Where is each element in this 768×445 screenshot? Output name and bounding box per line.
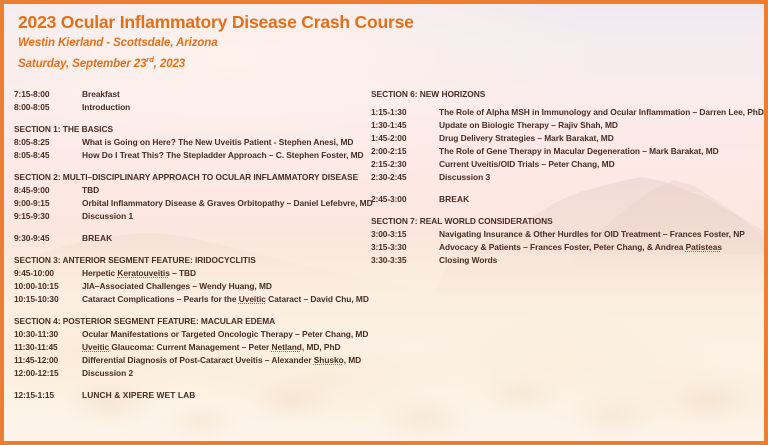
schedule-time: 9:45-10:00 bbox=[14, 269, 82, 277]
date-suffix: , 2023 bbox=[154, 58, 185, 70]
schedule-description: Discussion 1 bbox=[82, 212, 133, 220]
schedule-description: Breakfast bbox=[82, 90, 120, 98]
schedule-time: 9:30-9:45 bbox=[14, 234, 82, 242]
schedule-description: Discussion 2 bbox=[82, 369, 133, 377]
schedule-row: 3:15-3:30Advocacy & Patients – Frances F… bbox=[371, 243, 767, 256]
section-heading: SECTION 6: NEW HORIZONS bbox=[371, 90, 767, 103]
schedule-time: 9:00-9:15 bbox=[14, 199, 82, 207]
schedule-description: Orbital Inflammatory Disease & Graves Or… bbox=[82, 199, 373, 207]
schedule-time: 10:30-11:30 bbox=[14, 330, 82, 338]
schedule-time: 8:00-8:05 bbox=[14, 103, 82, 111]
schedule-description: TBD bbox=[82, 186, 99, 194]
schedule-row: 2:30-2:45Discussion 3 bbox=[371, 173, 767, 186]
schedule-time: 9:15-9:30 bbox=[14, 212, 82, 220]
schedule-description: Introduction bbox=[82, 103, 130, 111]
schedule-description: Current Uveitis/OID Trials – Peter Chang… bbox=[439, 160, 615, 168]
schedule-time: 2:45-3:00 bbox=[371, 195, 439, 203]
schedule-spacer bbox=[14, 225, 374, 234]
schedule-description: Closing Words bbox=[439, 256, 497, 264]
date-prefix: Saturday, September 23 bbox=[18, 58, 146, 70]
schedule-row: 9:30-9:45BREAK bbox=[14, 234, 374, 247]
schedule-time: 3:15-3:30 bbox=[371, 243, 439, 251]
schedule-description: BREAK bbox=[82, 234, 112, 242]
schedule-time: 2:00-2:15 bbox=[371, 147, 439, 155]
conference-schedule-poster: 2023 Ocular Inflammatory Disease Crash C… bbox=[0, 0, 768, 445]
schedule-time: 1:15-1:30 bbox=[371, 108, 439, 116]
schedule-row: 10:15-10:30Cataract Complications – Pear… bbox=[14, 295, 374, 308]
schedule-description: Herpetic Keratouveitis – TBD bbox=[82, 269, 196, 277]
schedule-description: What is Going on Here? The New Uveitis P… bbox=[82, 138, 353, 146]
schedule-row: 3:30-3:35Closing Words bbox=[371, 256, 767, 269]
schedule-time: 1:45-2:00 bbox=[371, 134, 439, 142]
schedule-description: Cataract Complications – Pearls for the … bbox=[82, 295, 369, 303]
schedule-description: Differential Diagnosis of Post-Cataract … bbox=[82, 356, 361, 364]
schedule-column-morning: 7:15-8:00Breakfast8:00-8:05IntroductionS… bbox=[14, 90, 374, 404]
schedule-description: Discussion 3 bbox=[439, 173, 490, 181]
schedule-description: Uveitic Glaucoma: Current Management – P… bbox=[82, 343, 341, 351]
schedule-description: How Do I Treat This? The Stepladder Appr… bbox=[82, 151, 364, 159]
schedule-description: Advocacy & Patients – Frances Foster, Pe… bbox=[439, 243, 722, 251]
schedule-spacer bbox=[371, 186, 767, 195]
schedule-time: 3:30-3:35 bbox=[371, 256, 439, 264]
schedule-time: 11:30-11:45 bbox=[14, 343, 82, 351]
schedule-time: 7:15-8:00 bbox=[14, 90, 82, 98]
schedule-description: Update on Biologic Therapy – Rajiv Shah,… bbox=[439, 121, 618, 129]
schedule-row: 8:00-8:05Introduction bbox=[14, 103, 374, 116]
date-line: Saturday, September 23rd, 2023 bbox=[18, 55, 414, 73]
schedule-time: 8:45-9:00 bbox=[14, 186, 82, 194]
schedule-row: 9:00-9:15Orbital Inflammatory Disease & … bbox=[14, 199, 374, 212]
date-ordinal: rd bbox=[146, 55, 153, 64]
poster-header: 2023 Ocular Inflammatory Disease Crash C… bbox=[18, 12, 414, 72]
schedule-description: The Role of Gene Therapy in Macular Dege… bbox=[439, 147, 719, 155]
schedule-row: 12:00-12:15Discussion 2 bbox=[14, 369, 374, 382]
schedule-description: Navigating Insurance & Other Hurdles for… bbox=[439, 230, 745, 238]
schedule-time: 12:00-12:15 bbox=[14, 369, 82, 377]
schedule-description: Ocular Manifestations or Targeted Oncolo… bbox=[82, 330, 368, 338]
schedule-time: 2:30-2:45 bbox=[371, 173, 439, 181]
schedule-column-afternoon: SECTION 6: NEW HORIZONS1:15-1:30The Role… bbox=[371, 90, 767, 269]
schedule-description: Drug Delivery Strategies – Mark Barakat,… bbox=[439, 134, 614, 142]
schedule-time: 10:15-10:30 bbox=[14, 295, 82, 303]
schedule-time: 2:15-2:30 bbox=[371, 160, 439, 168]
schedule-row: 11:45-12:00Differential Diagnosis of Pos… bbox=[14, 356, 374, 369]
schedule-row: 9:15-9:30Discussion 1 bbox=[14, 212, 374, 225]
schedule-row: 7:15-8:00Breakfast bbox=[14, 90, 374, 103]
schedule-time: 12:15-1:15 bbox=[14, 391, 82, 399]
schedule-description: JIA–Associated Challenges – Wendy Huang,… bbox=[82, 282, 272, 290]
schedule-row: 8:05-8:45How Do I Treat This? The Stepla… bbox=[14, 151, 374, 164]
schedule-time: 8:05-8:25 bbox=[14, 138, 82, 146]
schedule-description: The Role of Alpha MSH in Immunology and … bbox=[439, 108, 764, 116]
schedule-time: 8:05-8:45 bbox=[14, 151, 82, 159]
schedule-row: 2:45-3:00BREAK bbox=[371, 195, 767, 208]
schedule-row: 2:15-2:30Current Uveitis/OID Trials – Pe… bbox=[371, 160, 767, 173]
section-heading: SECTION 2: MULTI–DISCIPLINARY APPROACH T… bbox=[14, 173, 374, 186]
schedule-time: 10:00-10:15 bbox=[14, 282, 82, 290]
schedule-description: LUNCH & XIPERE WET LAB bbox=[82, 391, 195, 399]
schedule-time: 11:45-12:00 bbox=[14, 356, 82, 364]
schedule-time: 1:30-1:45 bbox=[371, 121, 439, 129]
schedule-row: 12:15-1:15LUNCH & XIPERE WET LAB bbox=[14, 391, 374, 404]
schedule-time: 3:00-3:15 bbox=[371, 230, 439, 238]
page-title: 2023 Ocular Inflammatory Disease Crash C… bbox=[18, 12, 414, 32]
schedule-description: BREAK bbox=[439, 195, 469, 203]
venue-line: Westin Kierland - Scottsdale, Arizona bbox=[18, 35, 414, 52]
